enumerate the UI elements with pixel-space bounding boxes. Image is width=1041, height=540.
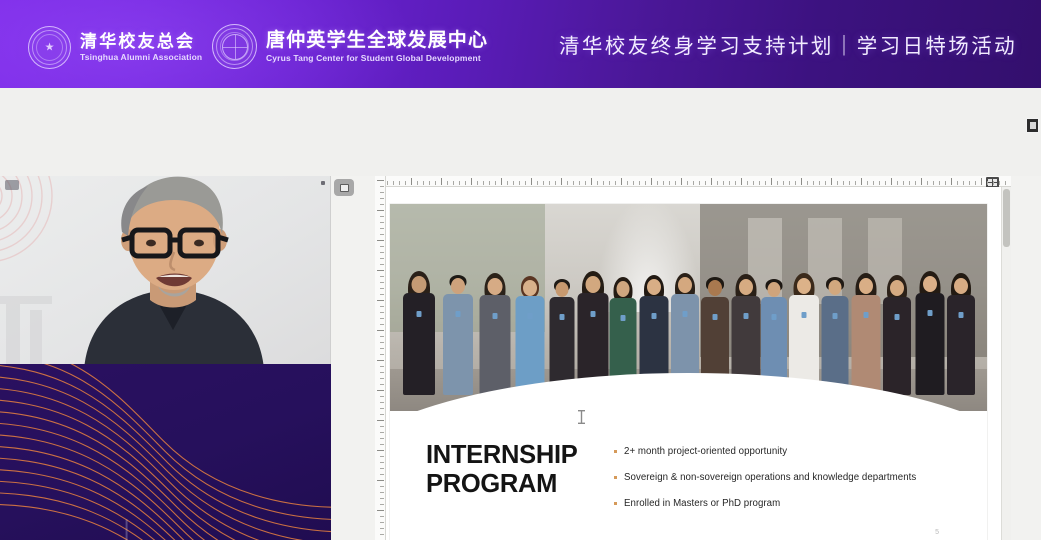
ruler-tick — [380, 312, 384, 313]
ruler-tick — [717, 181, 718, 185]
slide-panel-toggle-icon[interactable] — [334, 179, 354, 196]
ruler-tick — [963, 181, 964, 185]
ruler-tick — [380, 354, 384, 355]
seal-star-glyph: ★ — [45, 42, 55, 53]
ruler-tick — [1005, 181, 1006, 185]
ruler-tick — [633, 181, 634, 185]
ruler-tick — [489, 181, 490, 185]
ruler-tick — [380, 384, 384, 385]
ruler-tick — [579, 181, 580, 185]
ruler-tick — [609, 181, 610, 185]
ruler-tick — [377, 360, 384, 361]
ruler-tick — [807, 181, 808, 185]
ruler-tick — [855, 181, 856, 185]
presentation-editor-window: INTERNSHIP PROGRAM 2+ month project-orie… — [331, 176, 1011, 540]
ruler-tick — [795, 181, 796, 185]
ruler-tick — [380, 492, 384, 493]
ruler-tick — [915, 181, 916, 185]
ruler-tick — [441, 178, 442, 185]
ruler-tick — [380, 342, 384, 343]
present-window-icon[interactable] — [1026, 118, 1039, 133]
ruler-tick — [380, 438, 384, 439]
ruler-tick — [507, 181, 508, 185]
ruler-tick — [819, 181, 820, 185]
ruler-tick — [657, 181, 658, 185]
ruler-tick — [699, 181, 700, 185]
ruler-tick — [903, 181, 904, 185]
ruler-tick — [501, 178, 502, 185]
slide-page-number: 5 — [935, 529, 939, 536]
ruler-tick — [377, 480, 384, 481]
speaker-portrait — [78, 176, 268, 364]
ruler-tick — [837, 181, 838, 185]
ruler-tick — [591, 178, 592, 185]
text-ibeam-cursor — [578, 410, 585, 424]
ruler-tick — [380, 504, 384, 505]
ruler-tick — [417, 181, 418, 185]
ruler-tick — [380, 366, 384, 367]
ruler-tick — [380, 294, 384, 295]
ruler-tick — [377, 330, 384, 331]
ruler-tick — [687, 181, 688, 185]
ruler-tick — [933, 181, 934, 185]
ruler-tick — [483, 181, 484, 185]
ruler-tick — [471, 178, 472, 185]
ruler-tick — [771, 178, 772, 185]
ruler-tick — [567, 181, 568, 185]
ruler-tick — [981, 178, 982, 185]
bullet-text: 2+ month project-oriented opportunity — [624, 446, 787, 458]
ruler-tick — [897, 181, 898, 185]
ruler-tick — [377, 510, 384, 511]
ruler-tick — [801, 178, 802, 185]
ruler-tick — [939, 181, 940, 185]
ruler-tick — [380, 318, 384, 319]
vertical-scrollbar[interactable] — [1001, 187, 1011, 540]
bullet-square-icon — [614, 450, 617, 453]
ruler-tick — [380, 324, 384, 325]
ruler-tick — [380, 186, 384, 187]
ruler-tick — [645, 181, 646, 185]
list-item[interactable]: Enrolled in Masters or PhD program — [614, 498, 962, 510]
speaker-video-tile[interactable] — [0, 176, 331, 364]
ruler-tick — [975, 181, 976, 185]
slide-bullet-list[interactable]: 2+ month project-oriented opportunity So… — [614, 446, 962, 524]
ruler-tick — [867, 181, 868, 185]
ruler-tick — [380, 264, 384, 265]
ruler-tick — [543, 181, 544, 185]
ruler-tick — [525, 181, 526, 185]
ruler-tick — [549, 181, 550, 185]
ruler-tick — [380, 372, 384, 373]
ruler-tick — [380, 444, 384, 445]
ruler-tick — [951, 178, 952, 185]
ruler-tick — [377, 450, 384, 451]
ruler-tick — [735, 181, 736, 185]
globe-glyph — [222, 34, 248, 60]
ruler-tick — [885, 181, 886, 185]
bullet-text: Sovereign & non-sovereign operations and… — [624, 472, 916, 484]
ruler-tick — [380, 498, 384, 499]
tsinghua-gate-silhouette — [28, 512, 233, 540]
list-item[interactable]: Sovereign & non-sovereign operations and… — [614, 472, 962, 484]
ruler-tick — [555, 181, 556, 185]
ruler-tick — [380, 426, 384, 427]
grid-cell — [988, 183, 992, 186]
slide-title[interactable]: INTERNSHIP PROGRAM — [426, 441, 577, 499]
ruler-tick — [447, 181, 448, 185]
ruler-tick — [843, 181, 844, 185]
ruler-tick — [393, 181, 394, 185]
ruler-tick — [669, 181, 670, 185]
ruler-tick — [987, 181, 988, 185]
ruler-tick — [380, 204, 384, 205]
ruler-tick — [621, 178, 622, 185]
scrollbar-thumb[interactable] — [1003, 189, 1010, 247]
ruler-tick — [945, 181, 946, 185]
ruler-tick — [380, 246, 384, 247]
ruler-tick — [411, 178, 412, 185]
camera-badge-icon — [5, 180, 19, 190]
ruler-tick — [747, 181, 748, 185]
ruler-tick — [453, 181, 454, 185]
tsinghua-seal-icon: ★ — [28, 26, 71, 69]
ruler-tick — [380, 228, 384, 229]
ruler-tick — [380, 234, 384, 235]
ruler-tick — [380, 522, 384, 523]
ruler-tick — [380, 486, 384, 487]
ruler-tick — [380, 402, 384, 403]
ruler-tick — [380, 396, 384, 397]
ruler-tick — [891, 178, 892, 185]
ruler-tick — [783, 181, 784, 185]
horizontal-ruler[interactable] — [375, 176, 1011, 187]
present-glyph — [1030, 122, 1036, 129]
ruler-tick — [380, 306, 384, 307]
grid-cell — [988, 179, 992, 182]
ruler-tick — [705, 181, 706, 185]
logo-cyrus-tang-center: 唐仲英学生全球发展中心 Cyrus Tang Center for Studen… — [212, 24, 488, 69]
ruler-tick — [380, 474, 384, 475]
ruler-tick — [603, 181, 604, 185]
ruler-tick — [639, 181, 640, 185]
ruler-tick — [927, 181, 928, 185]
bullet-square-icon — [614, 476, 617, 479]
ruler-tick — [813, 181, 814, 185]
bullet-text: Enrolled in Masters or PhD program — [624, 498, 780, 510]
ruler-tick — [651, 178, 652, 185]
ruler-tick — [615, 181, 616, 185]
ruler-tick — [789, 181, 790, 185]
ruler-tick — [380, 432, 384, 433]
ruler-tick — [380, 378, 384, 379]
more-dot-icon[interactable] — [321, 181, 325, 185]
ruler-tick — [380, 414, 384, 415]
ruler-tick — [879, 181, 880, 185]
ruler-tick — [477, 181, 478, 185]
ruler-tick — [380, 252, 384, 253]
ruler-tick — [380, 462, 384, 463]
ruler-tick — [519, 181, 520, 185]
list-item[interactable]: 2+ month project-oriented opportunity — [614, 446, 962, 458]
logo-text-block: 清华校友总会 Tsinghua Alumni Association — [80, 33, 202, 63]
ruler-tick — [561, 178, 562, 185]
ruler-tick — [711, 178, 712, 185]
logo-name-en: Tsinghua Alumni Association — [80, 53, 202, 62]
ruler-tick — [380, 222, 384, 223]
ruler-tick — [429, 181, 430, 185]
logo-text-block: 唐仲英学生全球发展中心 Cyrus Tang Center for Studen… — [266, 31, 488, 63]
internship-cohort-group-photo — [390, 204, 987, 411]
ruler-tick — [465, 181, 466, 185]
ruler-tick — [380, 216, 384, 217]
ruler-tick — [849, 181, 850, 185]
ruler-tick — [729, 181, 730, 185]
ruler-tick — [759, 181, 760, 185]
desktop-right-gutter — [1011, 176, 1041, 540]
ruler-tick — [825, 181, 826, 185]
slide-page[interactable]: INTERNSHIP PROGRAM 2+ month project-orie… — [390, 204, 987, 540]
ruler-tick — [495, 181, 496, 185]
ruler-tick — [513, 181, 514, 185]
ruler-tick — [993, 181, 994, 185]
ruler-tick — [380, 534, 384, 535]
ruler-tick — [380, 198, 384, 199]
globe-seal-icon — [212, 24, 257, 69]
ruler-tick — [377, 390, 384, 391]
ruler-tick — [537, 181, 538, 185]
bullet-square-icon — [614, 502, 617, 505]
ruler-tick — [380, 468, 384, 469]
ruler-tick — [873, 181, 874, 185]
ruler-tick — [377, 420, 384, 421]
logo-name-en: Cyrus Tang Center for Student Global Dev… — [266, 54, 488, 63]
ruler-tick — [380, 408, 384, 409]
logo-name-cn: 唐仲英学生全球发展中心 — [266, 31, 488, 51]
ruler-tick — [380, 336, 384, 337]
ruler-tick — [380, 192, 384, 193]
ruler-tick — [399, 181, 400, 185]
ruler-tick — [957, 181, 958, 185]
ruler-tick — [423, 181, 424, 185]
ruler-tick — [999, 181, 1000, 185]
ruler-tick — [377, 180, 384, 181]
ruler-tick — [380, 348, 384, 349]
panel-glyph — [340, 184, 349, 192]
ruler-tick — [627, 181, 628, 185]
ruler-tick — [909, 181, 910, 185]
ruler-tick — [380, 282, 384, 283]
ruler-tick — [723, 181, 724, 185]
event-title: 清华校友终身学习支持计划｜学习日特场活动 — [559, 29, 1017, 59]
ruler-tick — [831, 178, 832, 185]
decorative-brand-panel — [0, 364, 331, 540]
ruler-tick — [459, 181, 460, 185]
screen: ★ 清华校友总会 Tsinghua Alumni Association 唐仲英… — [0, 0, 1041, 540]
ruler-tick — [531, 178, 532, 185]
ruler-tick — [377, 210, 384, 211]
ruler-tick — [765, 181, 766, 185]
ruler-tick — [597, 181, 598, 185]
ruler-tick — [777, 181, 778, 185]
ruler-tick — [377, 270, 384, 271]
ruler-tick — [741, 178, 742, 185]
logo-tsinghua-alumni-association: ★ 清华校友总会 Tsinghua Alumni Association — [28, 26, 202, 69]
ruler-tick — [435, 181, 436, 185]
ruler-tick — [585, 181, 586, 185]
ruler-tick — [861, 178, 862, 185]
ruler-tick — [387, 181, 388, 185]
slide-canvas[interactable]: INTERNSHIP PROGRAM 2+ month project-orie… — [386, 187, 1011, 540]
ruler-tick — [380, 516, 384, 517]
vertical-ruler[interactable] — [375, 176, 386, 540]
ruler-tick — [969, 181, 970, 185]
ruler-tick — [405, 181, 406, 185]
ruler-tick — [380, 528, 384, 529]
ruler-tick — [921, 178, 922, 185]
ruler-tick — [380, 258, 384, 259]
ruler-tick — [693, 181, 694, 185]
ruler-tick — [675, 181, 676, 185]
ruler-tick — [663, 181, 664, 185]
event-header-banner: ★ 清华校友总会 Tsinghua Alumni Association 唐仲英… — [0, 0, 1041, 88]
meeting-stage: INTERNSHIP PROGRAM 2+ month project-orie… — [0, 88, 1041, 540]
ruler-tick — [573, 181, 574, 185]
ruler-tick — [380, 276, 384, 277]
logo-name-cn: 清华校友总会 — [80, 33, 202, 51]
ruler-tick — [377, 300, 384, 301]
ruler-tick — [377, 240, 384, 241]
ruler-tick — [681, 178, 682, 185]
ruler-tick — [380, 288, 384, 289]
ruler-tick — [753, 181, 754, 185]
ruler-tick — [380, 456, 384, 457]
